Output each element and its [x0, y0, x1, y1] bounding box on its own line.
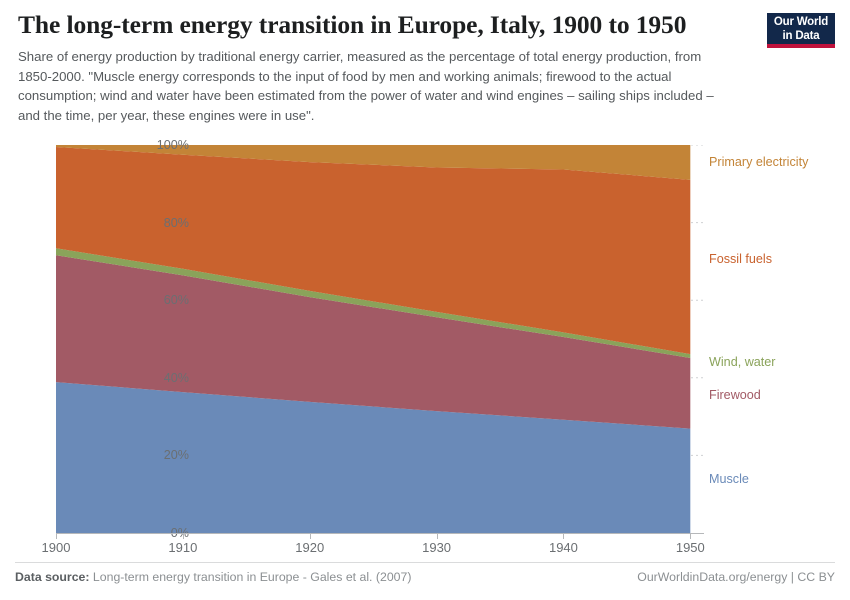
y-axis-tick-label: 60%: [164, 293, 195, 307]
y-axis-tick-label: 20%: [164, 448, 195, 462]
y-axis-tick-label: 100%: [157, 138, 195, 152]
data-source-text: Long-term energy transition in Europe - …: [93, 570, 412, 584]
x-axis-tickmark: [437, 534, 438, 539]
owid-logo-line-1: Our World: [767, 16, 835, 30]
chart-header: The long-term energy transition in Europ…: [18, 10, 738, 125]
series-label-muscle[interactable]: Muscle: [709, 472, 749, 486]
y-axis-tick-label: 40%: [164, 371, 195, 385]
series-label-primary-electricity[interactable]: Primary electricity: [709, 155, 808, 169]
stacked-area-svg: [56, 145, 703, 533]
x-axis-line: [56, 533, 704, 534]
footer-divider: [15, 562, 835, 563]
x-axis-tick-label: 1900: [42, 540, 71, 555]
series-label-wind-water[interactable]: Wind, water: [709, 355, 776, 369]
owid-logo[interactable]: Our World in Data: [767, 13, 835, 48]
x-axis-tick-label: 1910: [168, 540, 197, 555]
chart-page: The long-term energy transition in Europ…: [0, 0, 850, 600]
plot-canvas[interactable]: [56, 145, 703, 533]
area-series-group: [56, 145, 690, 533]
license-text[interactable]: OurWorldinData.org/energy | CC BY: [637, 570, 835, 584]
x-axis-tickmark: [563, 534, 564, 539]
x-axis-tick-label: 1930: [422, 540, 451, 555]
x-axis-tickmark: [690, 534, 691, 539]
x-axis-tick-label: 1950: [676, 540, 705, 555]
series-label-fossil-fuels[interactable]: Fossil fuels: [709, 252, 772, 266]
x-axis-tickmark: [183, 534, 184, 539]
chart-area: 0%20%40%60%80%100% 190019101920193019401…: [0, 138, 850, 558]
chart-subtitle: Share of energy production by traditiona…: [18, 47, 734, 125]
page-title: The long-term energy transition in Europ…: [18, 10, 738, 40]
series-label-firewood[interactable]: Firewood: [709, 388, 761, 402]
data-source: Data source: Long-term energy transition…: [15, 570, 411, 584]
x-axis-tick-label: 1920: [295, 540, 324, 555]
data-source-label: Data source:: [15, 570, 90, 584]
y-axis-tick-label: 80%: [164, 216, 195, 230]
x-axis-tickmark: [310, 534, 311, 539]
x-axis-tickmark: [56, 534, 57, 539]
owid-logo-line-2: in Data: [767, 30, 835, 44]
x-axis-tick-label: 1940: [549, 540, 578, 555]
